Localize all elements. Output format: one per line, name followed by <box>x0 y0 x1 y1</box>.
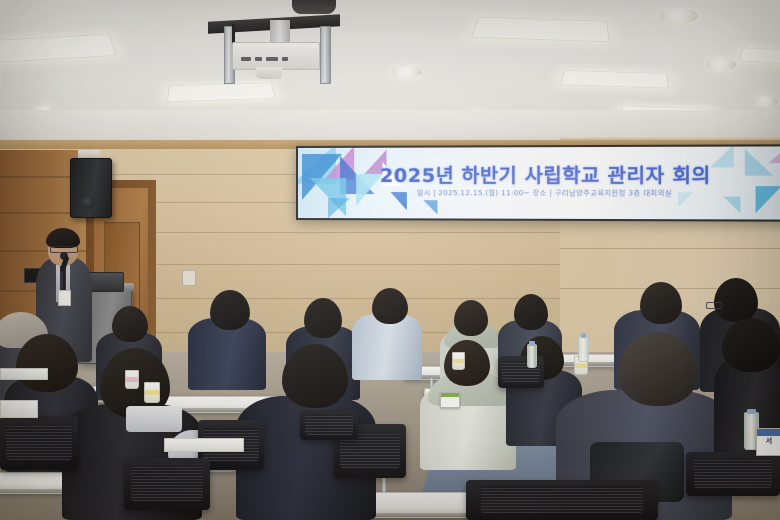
chair[interactable] <box>498 356 544 388</box>
lift-rail-right <box>320 26 331 84</box>
name-placard: 서 <box>756 428 780 456</box>
paper-cup <box>144 382 160 403</box>
projector-body <box>232 42 320 70</box>
attendee-glasses-icon <box>706 302 722 309</box>
chair[interactable] <box>686 452 780 496</box>
projector-lift <box>208 18 340 80</box>
attendee-head <box>640 282 682 324</box>
conference-room-photo: 2025년 하반기 사립학교 관리자 회의 일시 | 2025.12.15.(월… <box>0 0 780 520</box>
ceiling-panel-light <box>167 83 276 102</box>
attendee-head <box>454 300 488 336</box>
ceiling-downlight <box>660 8 698 24</box>
presenter-hair <box>46 228 80 248</box>
decor-triangle <box>723 197 740 214</box>
chair[interactable] <box>124 458 210 510</box>
projection-screen-bezel: 2025년 하반기 사립학교 관리자 회의 일시 | 2025.12.15.(월… <box>296 144 780 221</box>
handout-paper <box>0 400 38 418</box>
attendee-head <box>714 278 758 322</box>
attendee-head <box>16 334 78 392</box>
wall-switch-plate[interactable] <box>182 270 196 286</box>
handout-paper <box>0 368 48 380</box>
chair[interactable] <box>300 410 358 440</box>
ceiling-panel-light <box>471 17 609 42</box>
chair[interactable] <box>466 480 658 520</box>
ceiling-panel-light <box>738 47 780 65</box>
attendee-collar <box>126 406 182 432</box>
ceiling-panel-light <box>560 70 669 88</box>
attendee-head <box>112 306 148 342</box>
projection-screen: 2025년 하반기 사립학교 관리자 회의 일시 | 2025.12.15.(월… <box>298 146 780 219</box>
name-placard <box>440 392 460 408</box>
slide-subtitle: 일시 | 2025.12.15.(월) 11:00~ 장소 | 구리남양주교육지… <box>298 188 780 199</box>
id-badge <box>58 290 71 306</box>
lanyard <box>63 268 65 290</box>
ceiling-downlight <box>706 58 736 71</box>
ceiling-panel-light <box>0 34 117 63</box>
attendee-head <box>722 318 780 372</box>
water-bottle <box>527 344 537 368</box>
name-placard-label: 서 <box>757 436 780 446</box>
paper-cup <box>452 352 465 370</box>
ceiling-downlight <box>752 96 778 107</box>
laptop <box>88 272 124 292</box>
attendee-head <box>444 340 490 386</box>
attendee-head <box>372 288 408 324</box>
projector-mount <box>270 20 290 42</box>
water-bottle <box>578 336 589 362</box>
paper-cup <box>125 370 139 389</box>
decor-triangle <box>423 200 437 214</box>
handout-paper <box>164 438 244 452</box>
projector-lens <box>256 67 282 79</box>
attendee-head <box>514 294 548 330</box>
attendee-head <box>210 290 250 330</box>
speaker-driver-icon <box>82 196 95 209</box>
attendee-head <box>304 298 342 338</box>
chair[interactable] <box>0 416 78 470</box>
ceiling-downlight <box>392 66 422 78</box>
decor-triangle <box>328 198 350 218</box>
slide-title: 2025년 하반기 사립학교 관리자 회의 <box>298 160 780 188</box>
wall-speaker <box>70 158 112 218</box>
ceiling-pendant-speaker <box>292 0 336 14</box>
